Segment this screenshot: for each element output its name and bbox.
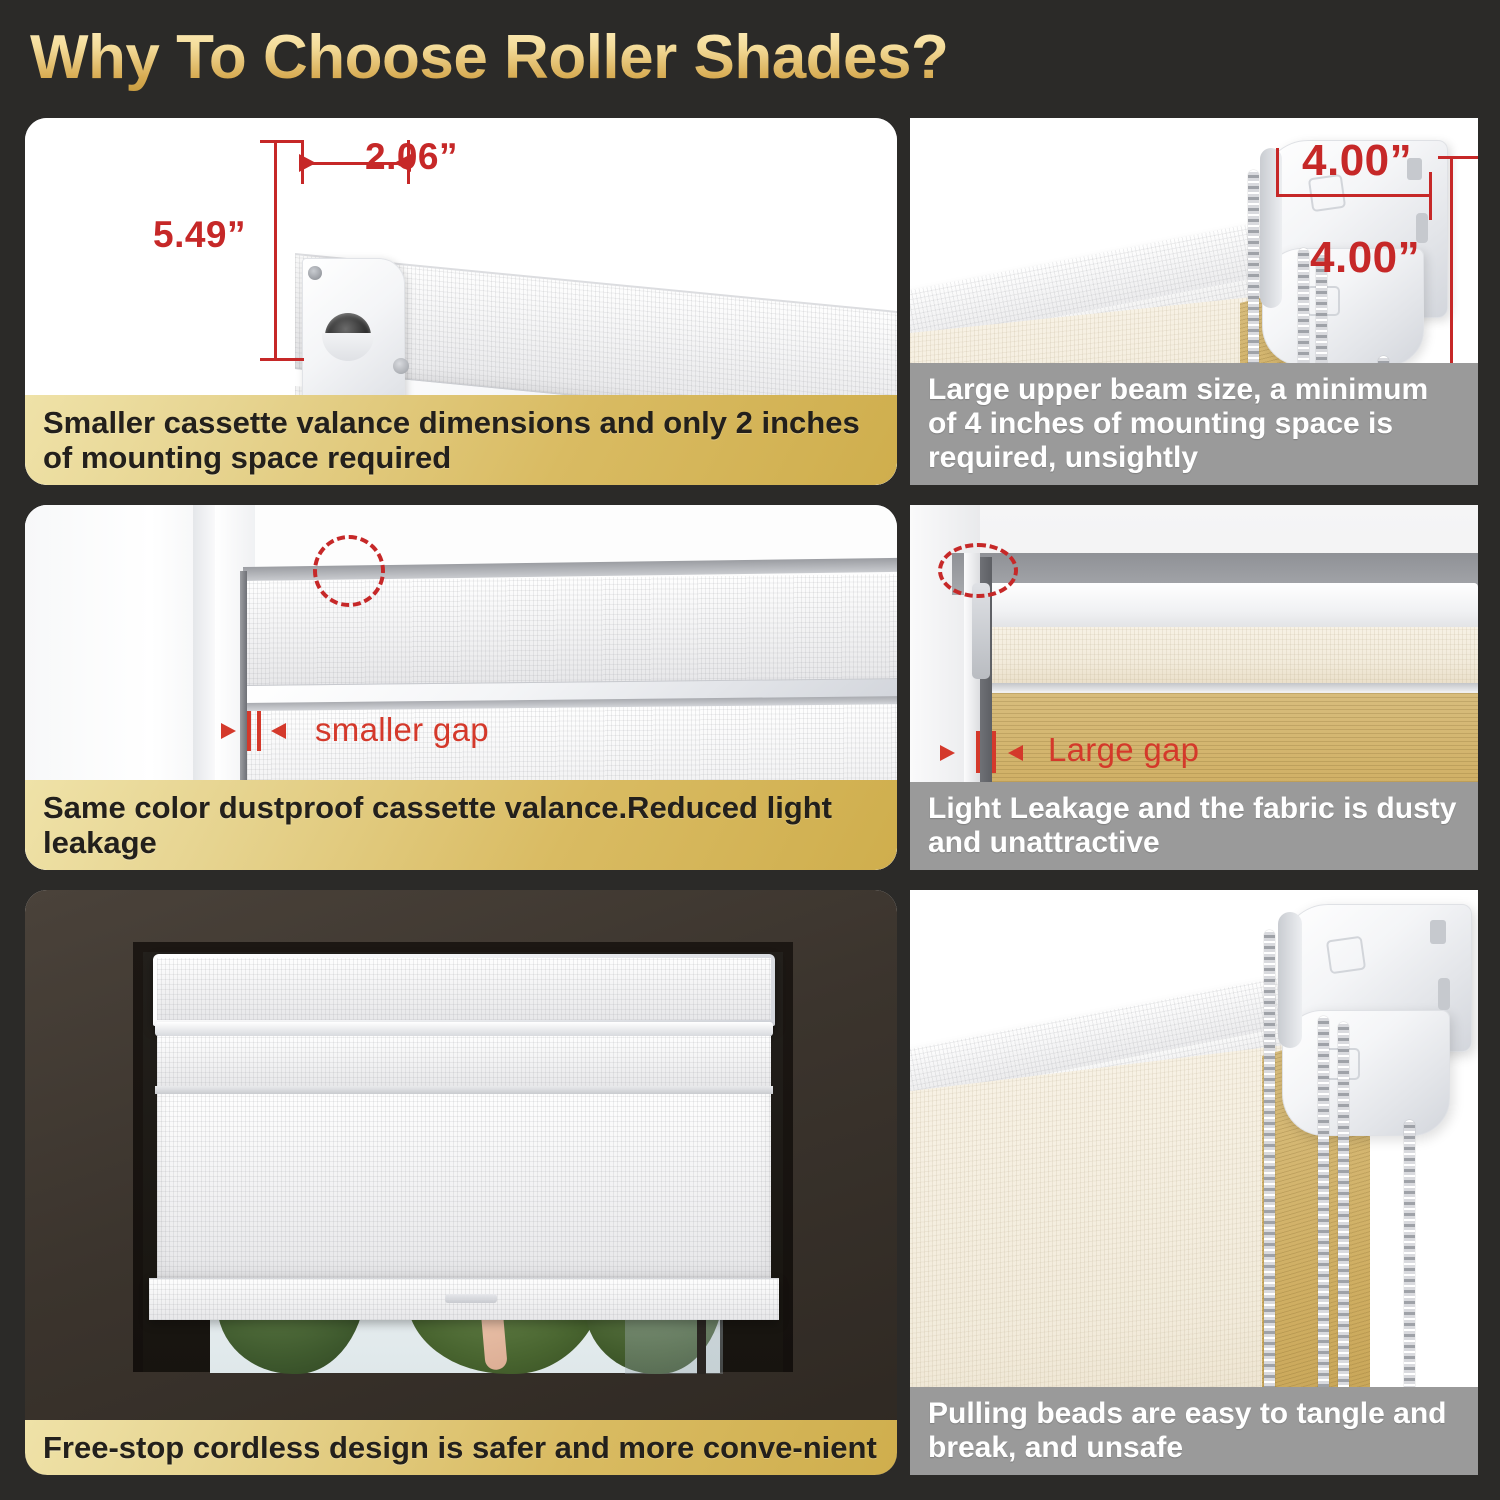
caption-bad-light-leakage: Light Leakage and the fabric is dusty an… <box>910 782 1478 870</box>
highlight-circle-gap <box>938 543 1018 598</box>
highlight-circle-gap <box>313 535 385 607</box>
panel-good-dustproof-valance: smaller gap Same color dustproof cassett… <box>25 505 897 870</box>
caption-good-cassette-dimensions: Smaller cassette valance dimensions and … <box>25 395 897 485</box>
dimension-label-height: 4.00” <box>1310 233 1420 283</box>
gap-label-large: Large gap <box>1048 731 1199 769</box>
panel-bad-pulling-beads: Pulling beads are easy to tangle and bre… <box>910 890 1478 1475</box>
page-title: Why To Choose Roller Shades? <box>30 22 948 93</box>
panel-bad-light-leakage: Large gap Light Leakage and the fabric i… <box>910 505 1478 870</box>
panel-bad-upper-beam-size: 4.00” 4.00” Large upper beam size, a min… <box>910 118 1478 485</box>
caption-bad-pulling-beads: Pulling beads are easy to tangle and bre… <box>910 1387 1478 1475</box>
caption-good-cordless-design: Free-stop cordless design is safer and m… <box>25 1420 897 1475</box>
dimension-label-width: 4.00” <box>1302 136 1412 186</box>
panel-good-cordless-design: Free-stop cordless design is safer and m… <box>25 890 897 1475</box>
illustration-cordless-window-scene <box>25 890 897 1475</box>
gap-label-small: smaller gap <box>315 711 489 749</box>
panel-good-cassette-dimensions: 2.06” 5.49” Smaller cassette valance dim… <box>25 118 897 485</box>
caption-bad-upper-beam-size: Large upper beam size, a minimum of 4 in… <box>910 363 1478 485</box>
infographic-root: Why To Choose Roller Shades? 2.06” <box>0 0 1500 1500</box>
dimension-label-width: 2.06” <box>365 136 458 178</box>
dimension-label-height: 5.49” <box>153 214 246 256</box>
caption-good-dustproof-valance: Same color dustproof cassette valance.Re… <box>25 780 897 870</box>
